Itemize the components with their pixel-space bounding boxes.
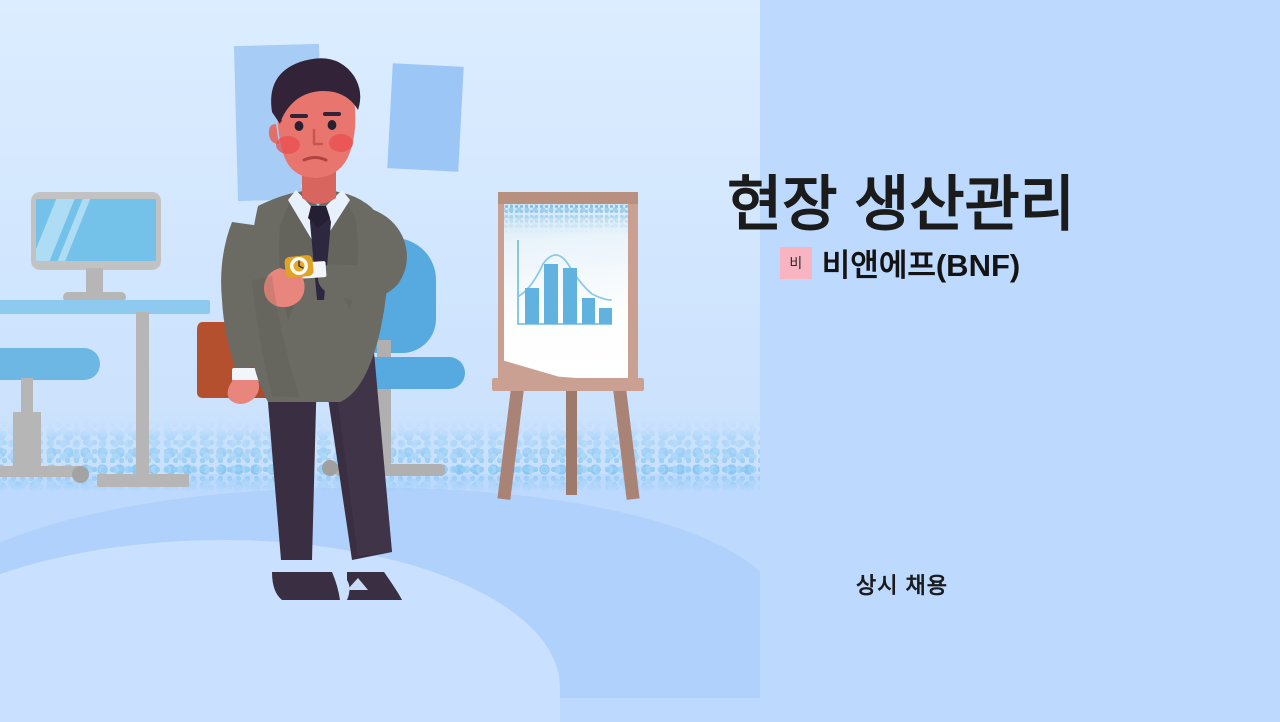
man-shoes <box>272 572 402 600</box>
company-row: 비 비앤에프(BNF) <box>640 240 1160 285</box>
man-head <box>269 58 360 178</box>
wristwatch-icon <box>284 255 314 279</box>
company-logo-badge: 비 <box>780 247 812 279</box>
recruitment-type-label: 상시 채용 <box>640 568 1164 600</box>
job-posting-poster: 현장 생산관리 비 비앤에프(BNF) 상시 채용 <box>0 0 1280 722</box>
poster-text-panel: 현장 생산관리 비 비앤에프(BNF) 상시 채용 <box>640 0 1280 722</box>
page-title: 현장 생산관리 <box>640 170 1162 240</box>
company-name: 비앤에프(BNF) <box>822 240 1020 285</box>
